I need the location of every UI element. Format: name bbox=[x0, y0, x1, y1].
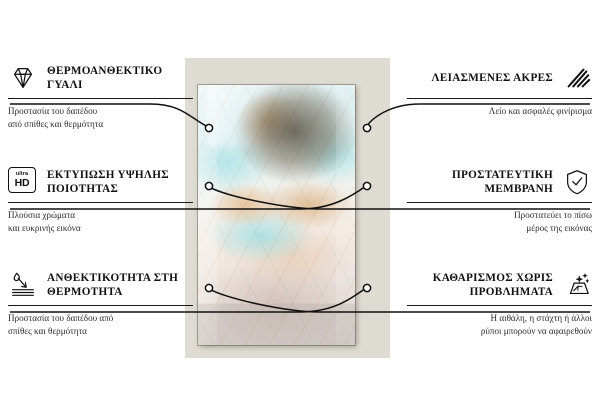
product-image-panel bbox=[198, 85, 355, 345]
feature-header: ΘΕΡΜΟΑΝΘΕΚΤΙΚΟ ΓΥΑΛΙ bbox=[8, 63, 193, 93]
feature-title: ΑΝΘΕΚΤΙΚΟΤΗΤΑ ΣΤΗ ΘΕΡΜΟΤΗΤΑ bbox=[47, 271, 193, 300]
feature-description: Προστατεύει το πίσω μέρος της εικόνας bbox=[407, 209, 592, 235]
feature-header: ultra HD ΕΚΤΥΠΩΣΗ ΥΨΗΛΗΣ ΠΟΙΟΤΗΤΑΣ bbox=[8, 167, 193, 197]
desc-line-1: Προστασία του δαπέδου bbox=[8, 105, 193, 118]
desc-line-1: Πλούσια χρώματα bbox=[8, 209, 193, 222]
feature-easy-cleaning: ΚΑΘΑΡΙΣΜΟΣ ΧΩΡΙΣ ΠΡΟΒΛΗΜΑΤΑ Η αιθάλη, η … bbox=[407, 270, 592, 338]
feature-divider bbox=[407, 202, 592, 203]
glass-glare bbox=[207, 85, 295, 147]
feature-header: ΑΝΘΕΚΤΙΚΟΤΗΤΑ ΣΤΗ ΘΕΡΜΟΤΗΤΑ bbox=[8, 270, 193, 300]
desc-line-2: από σπίθες και θερμότητα bbox=[8, 118, 193, 131]
desc-line-2: μέρος της εικόνας bbox=[407, 222, 592, 235]
flame-heat-resistance-icon bbox=[8, 270, 38, 300]
feature-divider bbox=[8, 98, 193, 99]
easy-cleaning-sparkle-icon bbox=[562, 270, 592, 300]
desc-line-1: Προστασία του δαπέδου από bbox=[8, 312, 193, 325]
desc-line-1: Η αιθάλη, η στάχτη ή άλλοι bbox=[407, 312, 592, 325]
feature-description: Λείο και ασφαλές φινίρισμα bbox=[407, 105, 592, 118]
feature-description: Η αιθάλη, η στάχτη ή άλλοι ρύποι μπορούν… bbox=[407, 312, 592, 338]
feature-header: ΚΑΘΑΡΙΣΜΟΣ ΧΩΡΙΣ ΠΡΟΒΛΗΜΑΤΑ bbox=[407, 270, 592, 300]
feature-title: ΚΑΘΑΡΙΣΜΟΣ ΧΩΡΙΣ ΠΡΟΒΛΗΜΑΤΑ bbox=[407, 271, 553, 300]
feature-header: ΛΕΙΑΣΜΕΝΕΣ ΑΚΡΕΣ bbox=[407, 63, 592, 93]
feature-divider bbox=[8, 305, 193, 306]
diamond-icon bbox=[8, 63, 38, 93]
feature-title: ΠΡΟΣΤΑΤΕΥΤΙΚΗ ΜΕΜΒΡΑΝΗ bbox=[407, 168, 553, 197]
polished-edges-icon bbox=[562, 63, 592, 93]
desc-line-2: σπίθες και θερμότητα bbox=[8, 325, 193, 338]
feature-header: ΠΡΟΣΤΑΤΕΥΤΙΚΗ ΜΕΜΒΡΑΝΗ bbox=[407, 167, 592, 197]
feature-high-quality-print: ultra HD ΕΚΤΥΠΩΣΗ ΥΨΗΛΗΣ ΠΟΙΟΤΗΤΑΣ Πλούσ… bbox=[8, 167, 193, 235]
feature-divider bbox=[8, 202, 193, 203]
desc-line-2: ρύποι μπορούν να αφαιρεθούν bbox=[407, 325, 592, 338]
feature-title: ΘΕΡΜΟΑΝΘΕΚΤΙΚΟ ΓΥΑΛΙ bbox=[47, 64, 193, 93]
desc-line-2: και ευκρινής εικόνα bbox=[8, 222, 193, 235]
desc-line-1: Προστατεύει το πίσω bbox=[407, 209, 592, 222]
feature-heat-resistant-glass: ΘΕΡΜΟΑΝΘΕΚΤΙΚΟ ΓΥΑΛΙ Προστασία του δαπέδ… bbox=[8, 63, 193, 131]
feature-divider bbox=[407, 98, 592, 99]
feature-heat-durability: ΑΝΘΕΚΤΙΚΟΤΗΤΑ ΣΤΗ ΘΕΡΜΟΤΗΤΑ Προστασία το… bbox=[8, 270, 193, 338]
shield-check-icon bbox=[562, 167, 592, 197]
feature-title: ΛΕΙΑΣΜΕΝΕΣ ΑΚΡΕΣ bbox=[432, 71, 553, 85]
marble-ink-artwork bbox=[198, 85, 355, 345]
feature-divider bbox=[407, 305, 592, 306]
infographic-canvas: ΘΕΡΜΟΑΝΘΕΚΤΙΚΟ ΓΥΑΛΙ Προστασία του δαπέδ… bbox=[0, 0, 600, 400]
feature-polished-edges: ΛΕΙΑΣΜΕΝΕΣ ΑΚΡΕΣ Λείο και ασφαλές φινίρι… bbox=[407, 63, 592, 118]
ultra-hd-icon: ultra HD bbox=[8, 167, 38, 197]
feature-description: Πλούσια χρώματα και ευκρινής εικόνα bbox=[8, 209, 193, 235]
desc-line-1: Λείο και ασφαλές φινίρισμα bbox=[407, 105, 592, 118]
feature-protective-membrane: ΠΡΟΣΤΑΤΕΥΤΙΚΗ ΜΕΜΒΡΑΝΗ Προστατεύει το πί… bbox=[407, 167, 592, 235]
feature-description: Προστασία του δαπέδου από σπίθες και θερ… bbox=[8, 105, 193, 131]
feature-description: Προστασία του δαπέδου από σπίθες και θερ… bbox=[8, 312, 193, 338]
feature-title: ΕΚΤΥΠΩΣΗ ΥΨΗΛΗΣ ΠΟΙΟΤΗΤΑΣ bbox=[47, 168, 193, 197]
hd-label: HD bbox=[15, 178, 30, 189]
